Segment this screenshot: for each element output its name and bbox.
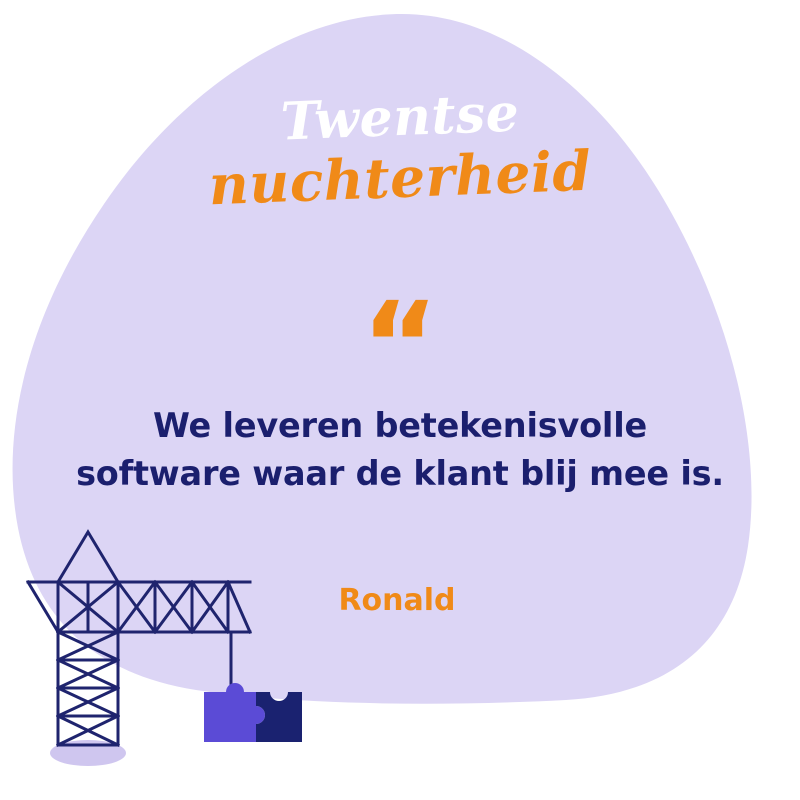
quote-line-1: We leveren betekenisvolle: [40, 402, 760, 450]
quote-text: We leveren betekenisvolle software waar …: [40, 402, 760, 497]
puzzle-piece-left: [204, 683, 265, 742]
testimonial-card: Twentse nuchterheid “ We leveren beteken…: [0, 0, 800, 800]
puzzle-icon: [200, 670, 310, 750]
quote-line-2: software waar de klant blij mee is.: [40, 450, 760, 498]
quote-mark-icon: “: [0, 286, 800, 404]
quote-author: Ronald: [262, 586, 532, 616]
